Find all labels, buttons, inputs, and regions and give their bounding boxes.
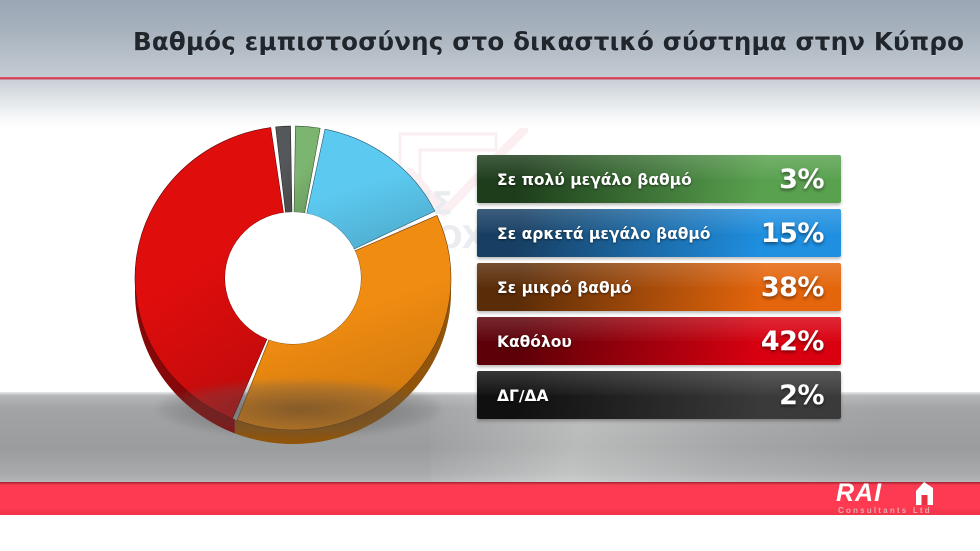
brand-logo-name: RAI [836, 481, 882, 506]
legend-row[interactable]: Καθόλου42% [477, 317, 841, 365]
footer-band [0, 482, 980, 515]
donut-hole [225, 212, 361, 344]
brand-logo: RAI Consultants Ltd [836, 481, 948, 517]
page-title: Βαθμός εμπιστοσύνης στο δικαστικό σύστημ… [133, 27, 964, 56]
legend-row[interactable]: Σε αρκετά μεγάλο βαθμό15% [477, 209, 841, 257]
legend-label: ΔΓ/ΔΑ [497, 371, 549, 419]
brand-logo-tagline: Consultants Ltd [838, 506, 932, 515]
legend-value: 42% [761, 317, 824, 365]
legend-label: Σε πολύ μεγάλο βαθμό [497, 155, 692, 203]
donut-drop-shadow [158, 380, 440, 438]
slide-canvas: Βαθμός εμπιστοσύνης στο δικαστικό σύστημ… [0, 0, 980, 551]
legend-label: Σε μικρό βαθμό [497, 263, 632, 311]
legend-row[interactable]: Σε πολύ μεγάλο βαθμό3% [477, 155, 841, 203]
pillar-mark-icon [914, 482, 935, 505]
footer-white-strip [0, 515, 980, 551]
legend-label: Καθόλου [497, 317, 572, 365]
legend-row[interactable]: ΔΓ/ΔΑ2% [477, 371, 841, 419]
legend-value: 38% [761, 263, 824, 311]
legend-list: Σε πολύ μεγάλο βαθμό3%Σε αρκετά μεγάλο β… [477, 155, 841, 425]
donut-chart [128, 118, 458, 448]
legend-value: 15% [761, 209, 824, 257]
legend-label: Σε αρκετά μεγάλο βαθμό [497, 209, 710, 257]
legend-row[interactable]: Σε μικρό βαθμό38% [477, 263, 841, 311]
legend-value: 2% [779, 371, 824, 419]
legend-value: 3% [779, 155, 824, 203]
